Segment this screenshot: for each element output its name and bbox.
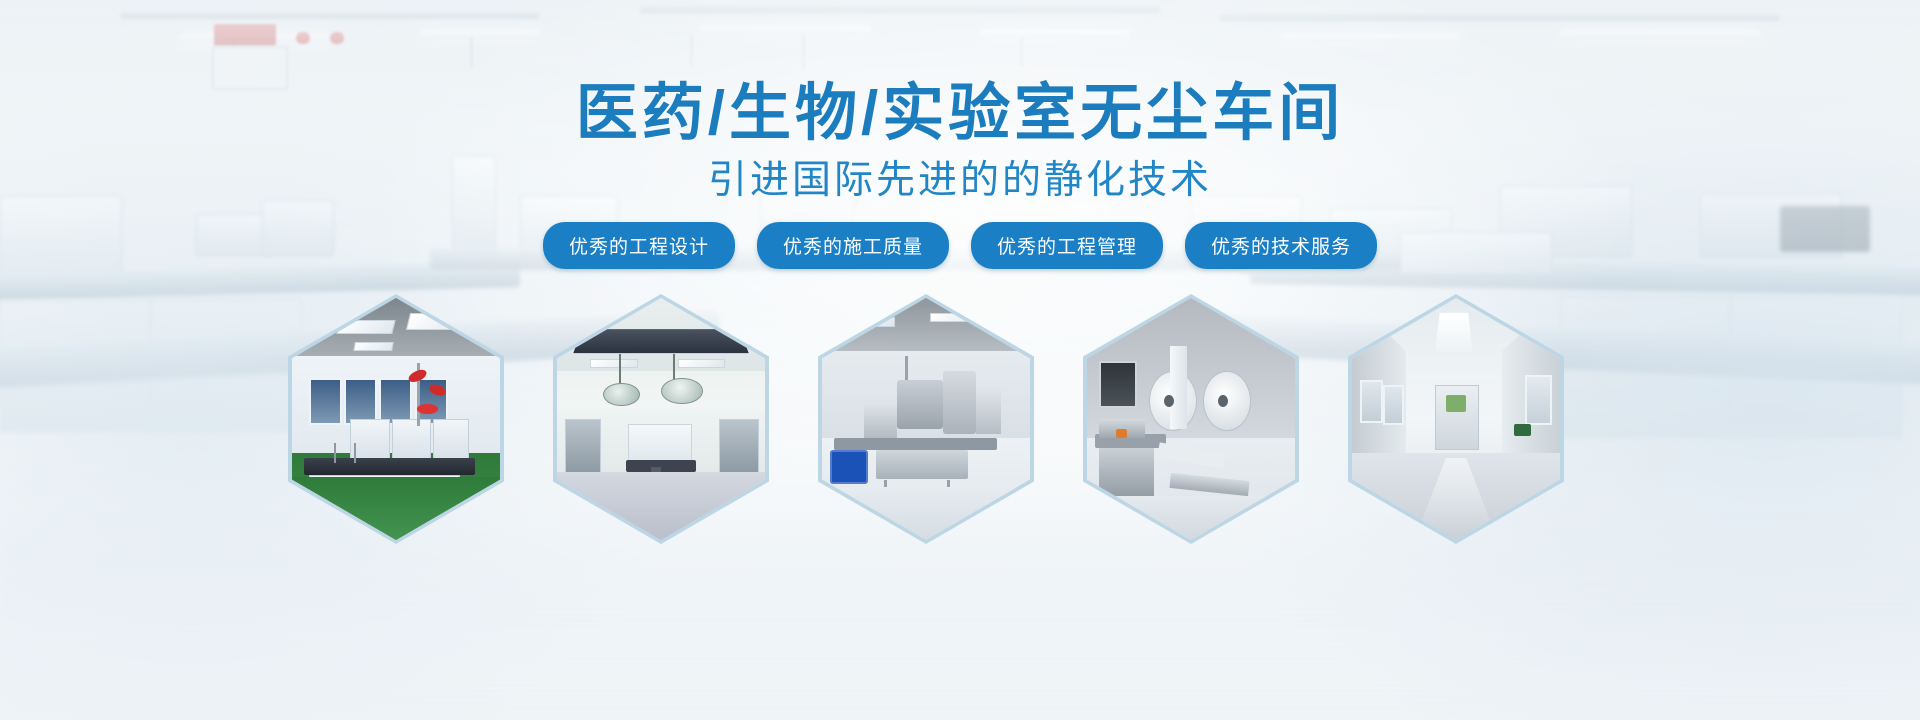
hexagon-image-packaging-line[interactable]: [1083, 294, 1299, 544]
feature-pill-project-management[interactable]: 优秀的工程管理: [971, 222, 1163, 269]
feature-pill-construction-quality[interactable]: 优秀的施工质量: [757, 222, 949, 269]
feature-pill-technical-service[interactable]: 优秀的技术服务: [1185, 222, 1377, 269]
hexagon-image-cleanroom-corridor[interactable]: [1348, 294, 1564, 544]
page-title: 医药/生物/实验室无尘车间: [0, 0, 1920, 149]
hero-banner: 医药/生物/实验室无尘车间 引进国际先进的的静化技术 优秀的工程设计 优秀的施工…: [0, 0, 1920, 720]
feature-pill-list: 优秀的工程设计 优秀的施工质量 优秀的工程管理 优秀的技术服务: [0, 222, 1920, 269]
page-subtitle: 引进国际先进的的静化技术: [0, 159, 1920, 204]
hexagon-image-laboratory-room[interactable]: [288, 294, 504, 544]
headline-block: 医药/生物/实验室无尘车间 引进国际先进的的静化技术: [0, 0, 1920, 204]
feature-pill-engineering-design[interactable]: 优秀的工程设计: [543, 222, 735, 269]
hexagon-image-production-machinery[interactable]: [818, 294, 1034, 544]
hexagon-gallery: [0, 294, 1920, 544]
hexagon-image-operating-theatre[interactable]: [553, 294, 769, 544]
